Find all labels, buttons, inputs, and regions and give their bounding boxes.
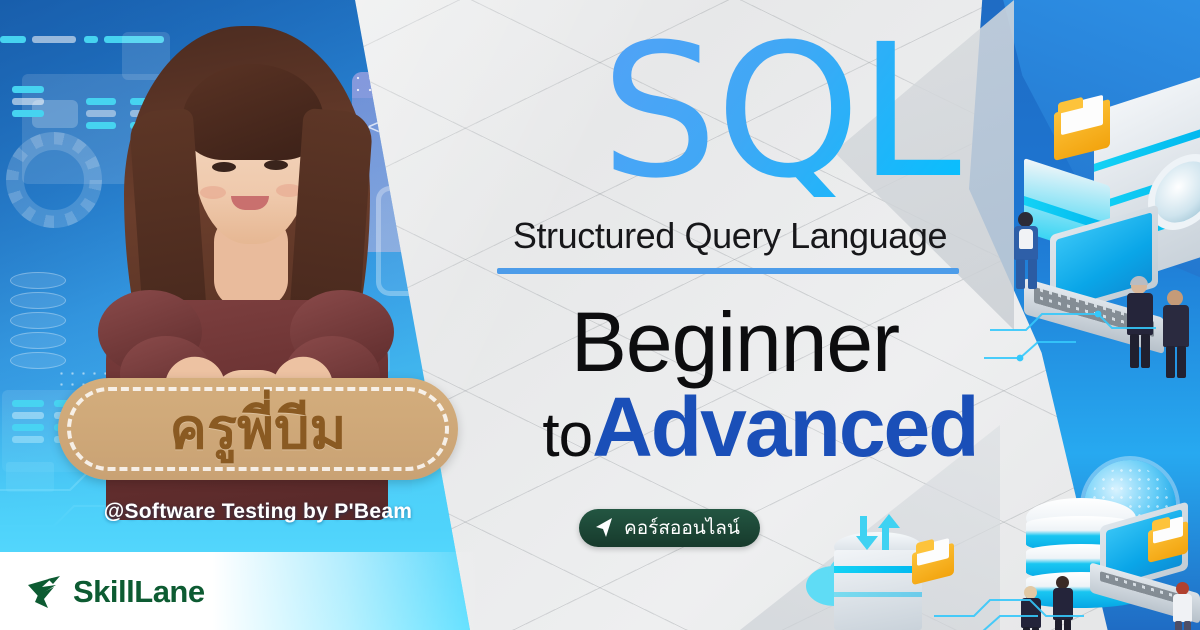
online-course-label: คอร์สออนไลน์: [624, 513, 740, 543]
course-banner: <?PHP?>: [0, 0, 1200, 630]
title-subtitle: Structured Query Language: [480, 215, 980, 257]
headline-to: to: [542, 401, 592, 470]
online-course-badge[interactable]: คอร์สออนไลน์: [579, 509, 760, 547]
brand-name: SkillLane: [73, 574, 205, 610]
database-cylinder-icon: [10, 272, 66, 289]
page-title: SQL: [570, 28, 990, 197]
title-divider: [497, 268, 959, 274]
folder-icon: [912, 543, 954, 585]
server-rack-illustration: [1010, 60, 1200, 360]
instructor-name-badge: ครูพี่บีม: [58, 378, 458, 480]
headline-line-1: Beginner: [500, 300, 970, 384]
sync-arrows-icon: [856, 516, 900, 550]
cloud-server-illustration: [800, 480, 980, 630]
database-illustration: [980, 450, 1200, 630]
skilllane-logo[interactable]: SkillLane: [26, 574, 205, 610]
headline-advanced: Advanced: [592, 380, 977, 474]
instructor-name-th: ครูพี่บีม: [170, 401, 347, 457]
headline-line-2: toAdvanced: [480, 385, 1040, 469]
skilllane-arrow-logo: [26, 575, 64, 609]
instructor-handle: @Software Testing by P'Beam: [58, 500, 458, 524]
cursor-arrow-icon: [593, 516, 615, 540]
